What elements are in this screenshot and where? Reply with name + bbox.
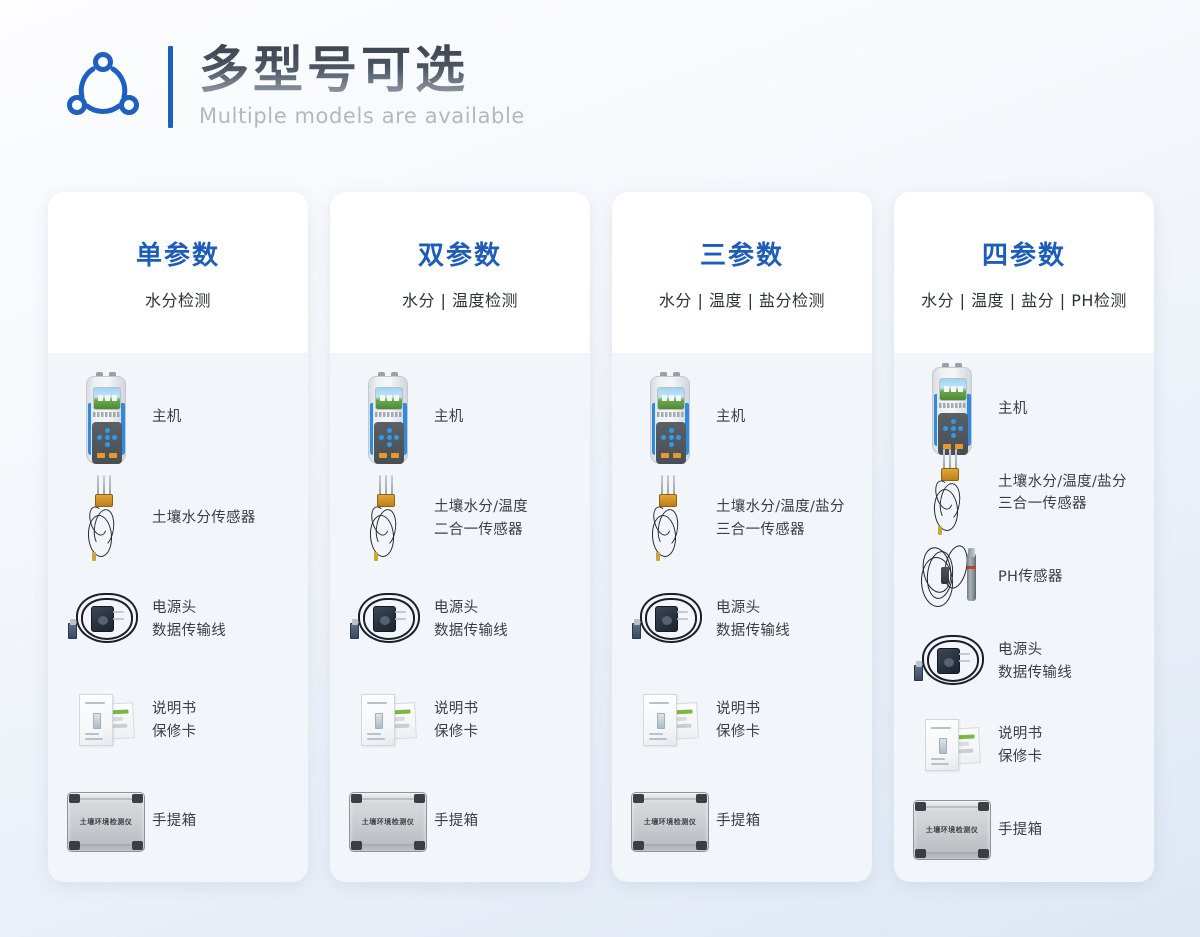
- model-item-label: 土壤水分/温度/盐分 三合一传感器: [716, 496, 845, 541]
- model-item-label: 主机: [998, 398, 1028, 420]
- model-item-art: [342, 475, 434, 563]
- model-item-art: [60, 475, 152, 563]
- model-card-items: 主机 土壤水分/温度/盐分 三合一传感器 电源头 数据传输线 说明书 保修卡 土…: [612, 353, 872, 882]
- model-item-art: [906, 449, 998, 537]
- soil-probe-sensor-icon: [928, 449, 976, 537]
- model-item-art: [624, 589, 716, 651]
- case-label: 土壤环境检测仪: [350, 817, 426, 827]
- model-item-art: 土壤环境检测仪: [342, 792, 434, 852]
- model-card[interactable]: 四参数水分 | 温度 | 盐分 | PH检测 主机 土壤水分/温度/盐分 三合一…: [894, 192, 1154, 882]
- model-card-items: 主机 土壤水分/温度/盐分 三合一传感器 PH传感器 电源头 数据传输线 说明书…: [894, 353, 1154, 882]
- model-item-label: 说明书 保修卡: [998, 723, 1042, 768]
- model-item-row: 说明书 保修卡: [48, 670, 308, 771]
- model-item-art: [624, 475, 716, 563]
- model-item-art: [342, 372, 434, 464]
- model-item-label: 说明书 保修卡: [434, 698, 478, 743]
- handheld-meter-icon: [368, 372, 408, 464]
- model-item-row: 主机: [48, 367, 308, 468]
- power-adapter-cable-icon: [914, 631, 990, 693]
- page-title: 多型号可选: [199, 42, 525, 98]
- model-item-label: 电源头 数据传输线: [998, 639, 1072, 684]
- model-card-header: 单参数水分检测: [48, 192, 308, 353]
- model-item-art: 土壤环境检测仪: [60, 792, 152, 852]
- model-item-art: [906, 717, 998, 775]
- manual-warranty-icon: [639, 692, 701, 750]
- model-item-row: PH传感器: [894, 535, 1154, 619]
- model-card-title: 三参数: [700, 235, 784, 272]
- model-item-art: 土壤环境检测仪: [624, 792, 716, 852]
- handheld-meter-icon: [86, 372, 126, 464]
- manual-warranty-icon: [75, 692, 137, 750]
- model-item-label: 土壤水分传感器: [152, 507, 256, 529]
- model-item-row: 电源头 数据传输线: [330, 569, 590, 670]
- model-item-art: [906, 363, 998, 455]
- aluminum-case-icon: 土壤环境检测仪: [349, 792, 427, 852]
- model-item-label: 手提箱: [152, 810, 196, 832]
- model-item-row: 土壤环境检测仪 手提箱: [48, 771, 308, 872]
- case-label: 土壤环境检测仪: [914, 825, 990, 835]
- model-item-art: [60, 589, 152, 651]
- model-item-row: 电源头 数据传输线: [612, 569, 872, 670]
- model-item-row: 土壤环境检测仪 手提箱: [330, 771, 590, 872]
- model-item-label: 手提箱: [434, 810, 478, 832]
- model-item-label: 土壤水分/温度 二合一传感器: [434, 496, 528, 541]
- model-card[interactable]: 三参数水分 | 温度 | 盐分检测 主机 土壤水分/温度/盐分 三合一传感器 电…: [612, 192, 872, 882]
- model-item-row: 电源头 数据传输线: [48, 569, 308, 670]
- model-item-row: 主机: [894, 367, 1154, 451]
- model-card-title: 单参数: [136, 235, 220, 272]
- aluminum-case-icon: 土壤环境检测仪: [67, 792, 145, 852]
- model-card-header: 双参数水分 | 温度检测: [330, 192, 590, 353]
- model-card-title: 四参数: [982, 235, 1066, 272]
- model-item-label: 电源头 数据传输线: [716, 597, 790, 642]
- model-item-art: [906, 543, 998, 611]
- soil-probe-sensor-icon: [82, 475, 130, 563]
- page-subtitle: Multiple models are available: [199, 104, 525, 128]
- model-card-subtitle: 水分 | 温度检测: [402, 287, 518, 311]
- model-item-row: 说明书 保修卡: [894, 704, 1154, 788]
- model-item-row: 土壤水分/温度 二合一传感器: [330, 468, 590, 569]
- model-card[interactable]: 单参数水分检测 主机 土壤水分传感器 电源头 数据传输线 说明书 保修卡 土壤环…: [48, 192, 308, 882]
- model-item-row: 土壤环境检测仪 手提箱: [894, 788, 1154, 872]
- model-item-art: [624, 692, 716, 750]
- model-item-row: 主机: [330, 367, 590, 468]
- aluminum-case-icon: 土壤环境检测仪: [913, 800, 991, 860]
- model-item-art: [624, 372, 716, 464]
- model-card-subtitle: 水分 | 温度 | 盐分 | PH检测: [921, 287, 1127, 311]
- handheld-meter-icon: [932, 363, 972, 455]
- model-item-label: 说明书 保修卡: [716, 698, 760, 743]
- aluminum-case-icon: 土壤环境检测仪: [631, 792, 709, 852]
- power-adapter-cable-icon: [68, 589, 144, 651]
- model-card-header: 三参数水分 | 温度 | 盐分检测: [612, 192, 872, 353]
- model-cards-container: 单参数水分检测 主机 土壤水分传感器 电源头 数据传输线 说明书 保修卡 土壤环…: [48, 192, 1154, 882]
- model-item-label: 主机: [716, 406, 746, 428]
- share-network-icon: [60, 42, 146, 128]
- model-item-row: 土壤水分传感器: [48, 468, 308, 569]
- model-card-items: 主机 土壤水分/温度 二合一传感器 电源头 数据传输线 说明书 保修卡 土壤环境…: [330, 353, 590, 882]
- model-item-label: 电源头 数据传输线: [152, 597, 226, 642]
- model-item-label: 主机: [152, 406, 182, 428]
- manual-warranty-icon: [357, 692, 419, 750]
- model-item-label: 手提箱: [998, 819, 1042, 841]
- model-item-label: 说明书 保修卡: [152, 698, 196, 743]
- soil-probe-sensor-icon: [364, 475, 412, 563]
- model-card-subtitle: 水分检测: [145, 287, 211, 311]
- power-adapter-cable-icon: [350, 589, 426, 651]
- case-label: 土壤环境检测仪: [632, 817, 708, 827]
- model-item-row: 主机: [612, 367, 872, 468]
- power-adapter-cable-icon: [632, 589, 708, 651]
- model-item-row: 土壤环境检测仪 手提箱: [612, 771, 872, 872]
- case-label: 土壤环境检测仪: [68, 817, 144, 827]
- model-item-row: 电源头 数据传输线: [894, 619, 1154, 703]
- model-card-header: 四参数水分 | 温度 | 盐分 | PH检测: [894, 192, 1154, 353]
- model-item-art: 土壤环境检测仪: [906, 800, 998, 860]
- model-item-row: 土壤水分/温度/盐分 三合一传感器: [612, 468, 872, 569]
- model-item-row: 说明书 保修卡: [612, 670, 872, 771]
- model-item-art: [906, 631, 998, 693]
- header-divider: [168, 46, 173, 128]
- manual-warranty-icon: [921, 717, 983, 775]
- model-item-row: 土壤水分/温度/盐分 三合一传感器: [894, 451, 1154, 535]
- model-item-row: 说明书 保修卡: [330, 670, 590, 771]
- model-item-label: 土壤水分/温度/盐分 三合一传感器: [998, 471, 1127, 516]
- model-card-items: 主机 土壤水分传感器 电源头 数据传输线 说明书 保修卡 土壤环境检测仪 手提箱: [48, 353, 308, 882]
- model-card-title: 双参数: [418, 235, 502, 272]
- model-item-label: PH传感器: [998, 566, 1063, 588]
- header-title-block: 多型号可选 Multiple models are available: [199, 42, 525, 128]
- page-header: 多型号可选 Multiple models are available: [60, 42, 525, 128]
- model-item-label: 电源头 数据传输线: [434, 597, 508, 642]
- model-card[interactable]: 双参数水分 | 温度检测 主机 土壤水分/温度 二合一传感器 电源头 数据传输线…: [330, 192, 590, 882]
- model-item-art: [60, 372, 152, 464]
- model-card-subtitle: 水分 | 温度 | 盐分检测: [659, 287, 825, 311]
- ph-sensor-icon: [921, 543, 983, 611]
- model-item-label: 主机: [434, 406, 464, 428]
- soil-probe-sensor-icon: [646, 475, 694, 563]
- model-item-label: 手提箱: [716, 810, 760, 832]
- model-item-art: [342, 589, 434, 651]
- handheld-meter-icon: [650, 372, 690, 464]
- model-item-art: [60, 692, 152, 750]
- model-item-art: [342, 692, 434, 750]
